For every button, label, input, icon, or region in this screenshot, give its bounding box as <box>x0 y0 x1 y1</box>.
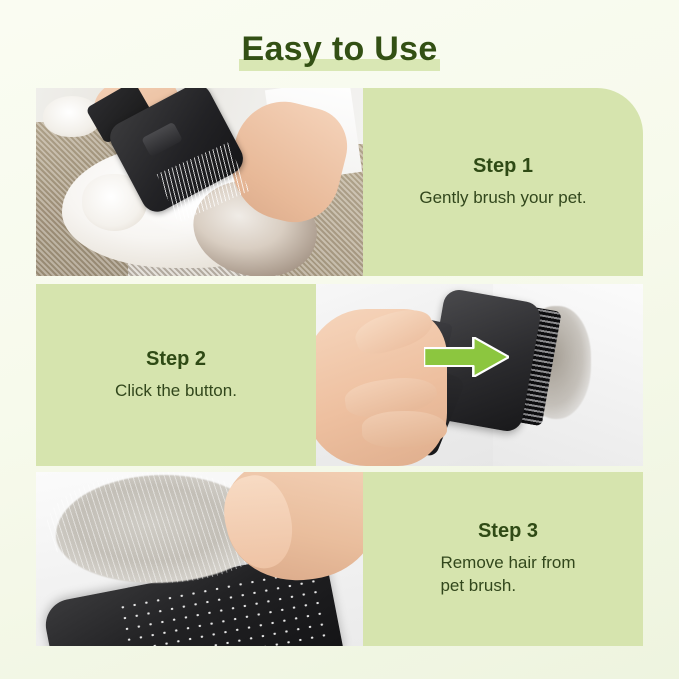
brush-head <box>105 88 249 217</box>
step-3-description: Remove hair from pet brush. <box>440 552 575 598</box>
user-hand <box>218 472 363 590</box>
step-1-text-block: Step 1 Gently brush your pet. <box>403 155 602 210</box>
step-3-photo <box>36 472 363 646</box>
promo-page: Easy to Use Step 1 Gently brush your pe <box>0 0 679 679</box>
photo-cat-brushing <box>36 88 363 276</box>
brush-head-plate <box>41 550 344 646</box>
brush-comb-teeth <box>483 302 561 427</box>
thumb <box>215 472 301 576</box>
step-2-description: Click the button. <box>115 380 237 403</box>
step-2-title: Step 2 <box>115 348 237 370</box>
mat-texture-right <box>278 144 363 276</box>
page-title: Easy to Use <box>235 26 443 72</box>
fur-clump <box>56 475 265 583</box>
step-1-photo <box>36 88 363 276</box>
cat-paw-lower <box>82 174 147 230</box>
photo-background-blur <box>493 284 643 466</box>
middle-finger <box>343 372 439 421</box>
brush-head <box>423 287 542 433</box>
page-title-text: Easy to Use <box>241 30 437 68</box>
step-2-panel: Step 2 Click the button. <box>36 284 316 466</box>
step-3-panel: Step 3 Remove hair from pet brush. <box>363 472 643 646</box>
step-2-photo <box>316 284 643 466</box>
cat-head <box>185 170 326 276</box>
index-finger <box>352 302 438 361</box>
step-3-text-block: Step 3 Remove hair from pet brush. <box>414 520 591 598</box>
cat-ear <box>266 167 329 223</box>
arrow-right-icon <box>424 337 509 377</box>
step-3-title: Step 3 <box>440 520 575 542</box>
green-arrow-overlay <box>424 337 509 377</box>
cat-fur-fluff <box>128 137 259 235</box>
brush-release-button <box>402 317 453 386</box>
cat-paw-upper <box>43 96 102 137</box>
brush-handle <box>85 88 154 144</box>
step-1-description: Gently brush your pet. <box>419 187 586 210</box>
fur-on-bristles <box>519 306 591 419</box>
photo-removing-fur <box>36 472 363 646</box>
step-1-title: Step 1 <box>419 155 586 177</box>
brush-handle <box>368 354 466 459</box>
groomer-hand-right <box>220 91 356 231</box>
mat-texture-bottom <box>128 205 292 276</box>
brush-pin-holes <box>116 565 329 646</box>
brush-button-knob <box>141 122 182 157</box>
ring-finger <box>361 410 447 449</box>
page-title-wrap: Easy to Use <box>0 26 679 78</box>
brush-bristles <box>156 142 249 222</box>
mat-texture-left <box>36 122 186 276</box>
cat-body <box>62 144 297 268</box>
groomer-hand-holding-brush <box>89 88 185 149</box>
user-hand <box>316 309 447 466</box>
fur-strands <box>46 472 275 583</box>
photo-brush-button <box>316 284 643 466</box>
sleeve <box>265 88 362 184</box>
step-2-text-block: Step 2 Click the button. <box>99 348 253 403</box>
step-1-panel: Step 1 Gently brush your pet. <box>363 88 643 276</box>
